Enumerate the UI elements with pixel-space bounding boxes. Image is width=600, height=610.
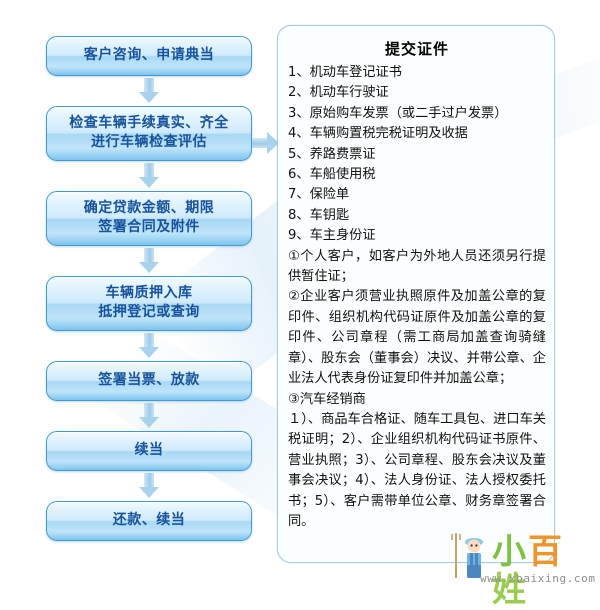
flow-arrow-1 [46,76,252,106]
flow-step-1[interactable]: 客户咨询、申请典当 [46,36,252,76]
flow-step-2[interactable]: 检查车辆手续真实、齐全 进行车辆检查评估 [46,106,252,161]
document-item: 2、机动车行驶证 [288,83,546,103]
document-note-dealer-heading: ③汽车经销商 [288,390,546,410]
flow-step-3-line-1: 确定贷款金额、期限 [53,199,245,218]
document-item: 4、车辆购置税完税证明及收据 [288,124,546,144]
flow-step-6-line-1: 续当 [53,441,245,460]
flow-step-1-line-1: 客户咨询、申请典当 [53,46,245,65]
document-note-dealer-body: １）、商品车合格证、随车工具包、进口车关税证明；2）、企业组织机构代码证书原件、… [288,410,546,532]
flow-step-2-line-2: 进行车辆检查评估 [53,133,245,152]
document-note-individual: ①个人客户，如客户为外地人员还须另行提供暂住证； [288,247,546,288]
flow-arrow-5 [46,401,252,431]
flow-step-6[interactable]: 续当 [46,431,252,471]
flow-step-7[interactable]: 还款、续当 [46,501,252,541]
flow-arrow-4 [46,331,252,361]
flow-step-4[interactable]: 车辆质押入库 抵押登记或查询 [46,276,252,331]
document-item: 9、车主身份证 [288,226,546,246]
flow-step-2-line-1: 检查车辆手续真实、齐全 [53,114,245,133]
document-item: 1、机动车登记证书 [288,63,546,83]
flow-step-7-line-1: 还款、续当 [53,511,245,530]
flow-step-4-line-1: 车辆质押入库 [53,284,245,303]
watermark-url: www.xbaixing.com [480,572,596,585]
document-item: 3、原始购车发票（或二手过户发票） [288,104,546,124]
flow-step-5-line-1: 签署当票、放款 [53,371,245,390]
process-flowchart: 客户咨询、申请典当 检查车辆手续真实、齐全 进行车辆检查评估 确定贷款金额、期限… [46,36,252,541]
documents-panel: 提交证件 1、机动车登记证书 2、机动车行驶证 3、原始购车发票（或二手过户发票… [277,25,555,563]
documents-panel-title: 提交证件 [288,38,546,59]
flow-arrow-2 [46,161,252,191]
flow-arrow-6 [46,471,252,501]
watermark-char-3: 姓 [492,570,528,610]
document-item: 8、车钥匙 [288,206,546,226]
flow-step-3[interactable]: 确定贷款金额、期限 签署合同及附件 [46,191,252,246]
flow-step-5[interactable]: 签署当票、放款 [46,361,252,401]
document-note-enterprise: ②企业客户须营业执照原件及加盖公章的复印件、组织机构代码证原件及加盖公章的复印件… [288,287,546,389]
flow-arrow-3 [46,246,252,276]
flow-step-3-line-2: 签署合同及附件 [53,218,245,237]
flow-step-4-line-2: 抵押登记或查询 [53,303,245,322]
document-item: 6、车船使用税 [288,165,546,185]
document-item: 7、保险单 [288,185,546,205]
document-item: 5、养路费票证 [288,145,546,165]
